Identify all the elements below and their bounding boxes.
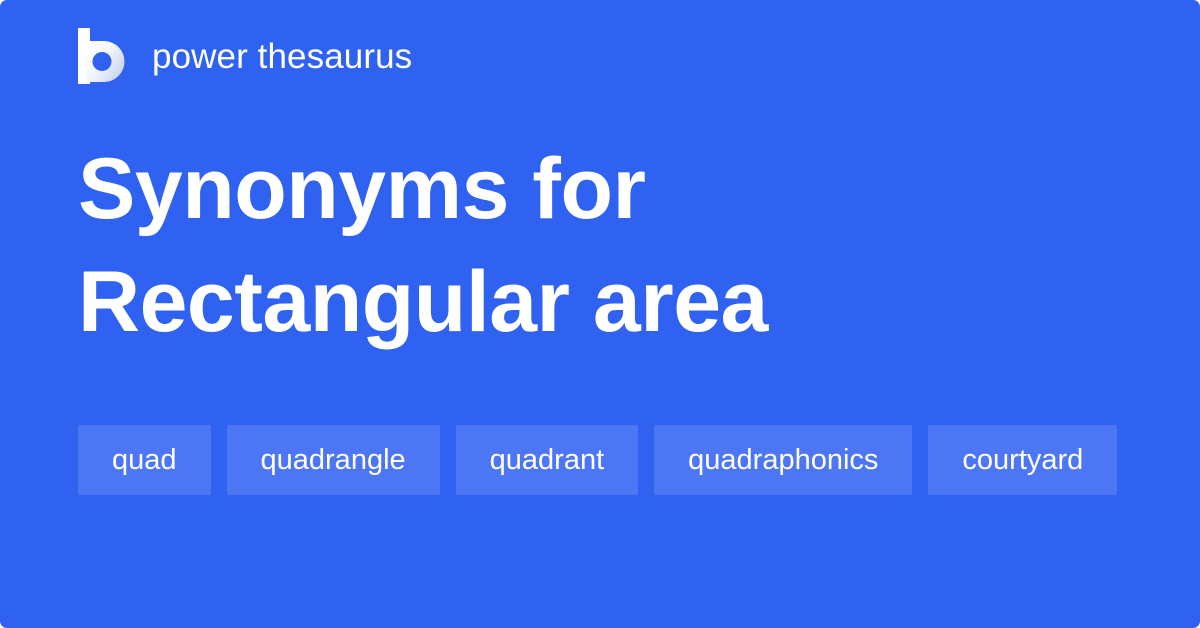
power-thesaurus-b-logo-icon [78,28,130,84]
synonym-chip-list: quad quadrangle quadrant quadraphonics c… [78,425,1138,495]
brand-logo[interactable]: power thesaurus [78,28,412,84]
synonym-chip[interactable]: courtyard [928,425,1117,495]
synonym-chip[interactable]: quadrangle [227,425,440,495]
brand-name: power thesaurus [152,39,412,74]
synonym-chip[interactable]: quadrant [456,425,639,495]
page-title: Synonyms for Rectangular area [78,133,1138,359]
synonym-chip[interactable]: quadraphonics [654,425,912,495]
synonym-chip[interactable]: quad [78,425,211,495]
share-card: power thesaurus Synonyms for Rectangular… [0,0,1200,628]
